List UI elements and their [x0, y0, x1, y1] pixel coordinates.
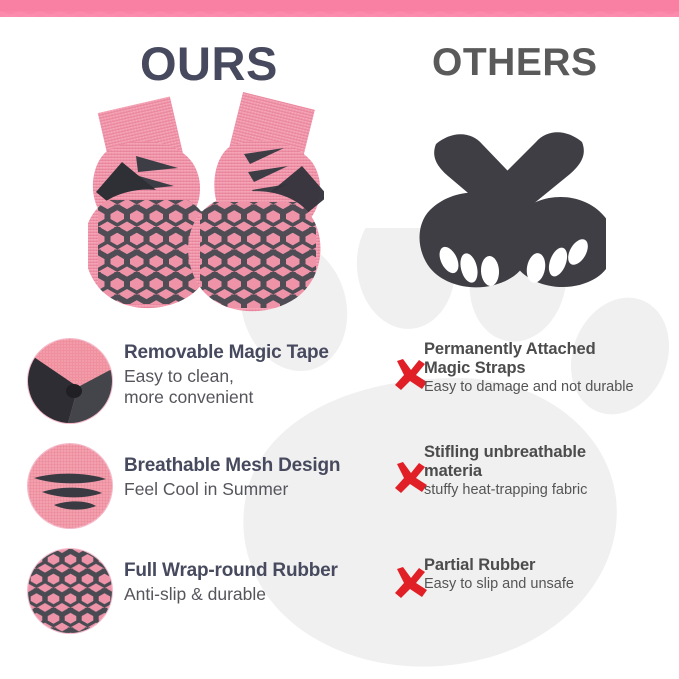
comparison-row: Removable Magic Tape Easy to clean, more…	[0, 330, 679, 435]
ours-feature-text: Full Wrap-round Rubber Anti-slip & durab…	[124, 560, 392, 605]
ours-feature-text: Breathable Mesh Design Feel Cool in Summ…	[124, 455, 392, 500]
banner-base-strip	[0, 11, 679, 17]
ours-feature-title: Full Wrap-round Rubber	[124, 560, 392, 582]
red-x-icon	[392, 566, 428, 600]
top-pink-banner	[0, 0, 679, 17]
others-feature-text: Partial Rubber Easy to slip and unsafe	[424, 556, 676, 594]
ours-feature-subtitle: Feel Cool in Summer	[124, 479, 392, 500]
ours-feature-subtitle: Anti-slip & durable	[124, 584, 392, 605]
others-feature-subtitle: stuffy heat-trapping fabric	[424, 482, 676, 499]
product-image-others	[414, 118, 606, 300]
infographic-canvas: OURS OTHERS	[0, 0, 679, 679]
page-title-others: OTHERS	[432, 41, 598, 85]
page-title-ours: OURS	[140, 36, 278, 91]
ours-feature-title: Removable Magic Tape	[124, 342, 392, 364]
velcro-strap-swatch-icon	[27, 338, 113, 424]
others-feature-subtitle: Easy to slip and unsafe	[424, 576, 676, 593]
others-feature-title: Stifling unbreathable materia	[424, 443, 676, 481]
ours-feature-title: Breathable Mesh Design	[124, 455, 392, 477]
mesh-chevron-swatch-icon	[27, 443, 113, 529]
comparison-row: Full Wrap-round Rubber Anti-slip & durab…	[0, 540, 679, 645]
comparison-rows: Removable Magic Tape Easy to clean, more…	[0, 330, 679, 645]
product-image-ours	[88, 92, 324, 322]
red-x-icon	[392, 461, 428, 495]
red-x-icon	[392, 358, 428, 392]
ours-feature-subtitle: Easy to clean, more convenient	[124, 366, 392, 409]
comparison-row: Breathable Mesh Design Feel Cool in Summ…	[0, 435, 679, 540]
others-feature-title: Partial Rubber	[424, 556, 676, 575]
others-feature-text: Stifling unbreathable materia stuffy hea…	[424, 443, 676, 500]
others-feature-subtitle: Easy to damage and not durable	[424, 379, 676, 396]
others-feature-title: Permanently Attached Magic Straps	[424, 340, 676, 378]
honeycomb-rubber-swatch-icon	[27, 548, 113, 634]
others-feature-text: Permanently Attached Magic Straps Easy t…	[424, 340, 676, 397]
ours-feature-text: Removable Magic Tape Easy to clean, more…	[124, 342, 392, 409]
